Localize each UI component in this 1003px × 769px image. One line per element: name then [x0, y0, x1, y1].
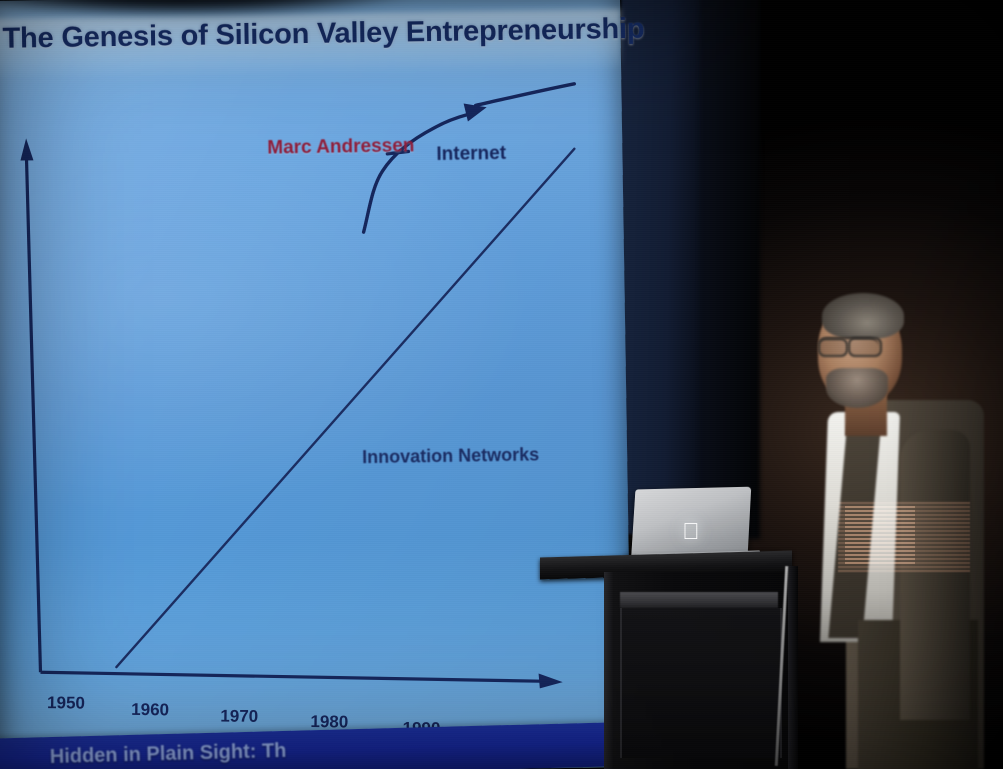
x-axis: [40, 664, 562, 696]
speaker-arm: [900, 430, 970, 720]
podium-trim: [620, 592, 778, 608]
slide-chart: 1950 1960 1970 1980 1990 2000: [0, 0, 632, 769]
foreground-blur-object: [0, 0, 440, 16]
internet-plateau: [475, 84, 574, 106]
label-internet: Internet: [436, 143, 506, 166]
speaker-hair: [822, 293, 904, 339]
series-innovation-networks: [108, 149, 582, 667]
podium-left-edge: [604, 572, 614, 769]
wall-navy-band: [613, 0, 713, 534]
svg-text:1970: 1970: [220, 706, 258, 725]
projection-screen: The Genesis of Silicon Valley Entreprene…: [0, 0, 632, 769]
series-internet: [362, 114, 470, 232]
glasses-right-lens-icon: [848, 337, 882, 357]
apple-logo-icon: : [680, 519, 702, 543]
svg-text:1960: 1960: [131, 700, 169, 719]
podium-right-edge: [788, 566, 798, 769]
screenshot-frame: The Genesis of Silicon Valley Entreprene…: [0, 0, 1003, 769]
video-interlace-artifact-2: [845, 506, 915, 564]
label-innovation-networks: Innovation Networks: [362, 444, 539, 468]
slide-footer-text: Hidden in Plain Sight: Th: [50, 740, 287, 769]
podium-front-panel: [620, 608, 782, 758]
svg-text:1950: 1950: [47, 693, 85, 712]
label-marc-andressen: Marc Andressen: [267, 135, 414, 159]
y-axis: [20, 138, 41, 672]
glasses-left-lens-icon: [818, 338, 848, 357]
wall-dark-band: [700, 0, 760, 539]
speaker-beard: [826, 368, 888, 408]
